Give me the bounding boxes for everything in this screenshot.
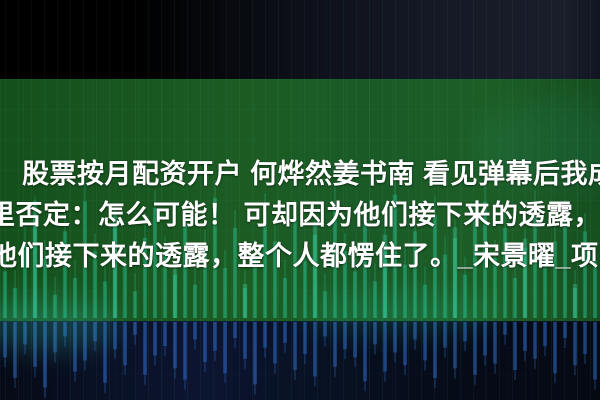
headline-line-1: 股票按月配资开户 何烨然姜书南 看见弹幕后我成 [22,159,600,189]
headline-line-2: 里否定：怎么可能！ 可却因为他们接下来的透露，整 [0,200,600,230]
headline-line-3: 他们接下来的透露，整个人都愣住了。_宋景曜_项目_ [0,241,600,271]
stock-banner-image: 股票按月配资开户 何烨然姜书南 看见弹幕后我成 里否定：怎么可能！ 可却因为他们… [0,0,600,400]
headline-text-block: 股票按月配资开户 何烨然姜书南 看见弹幕后我成 里否定：怎么可能！ 可却因为他们… [0,0,600,400]
